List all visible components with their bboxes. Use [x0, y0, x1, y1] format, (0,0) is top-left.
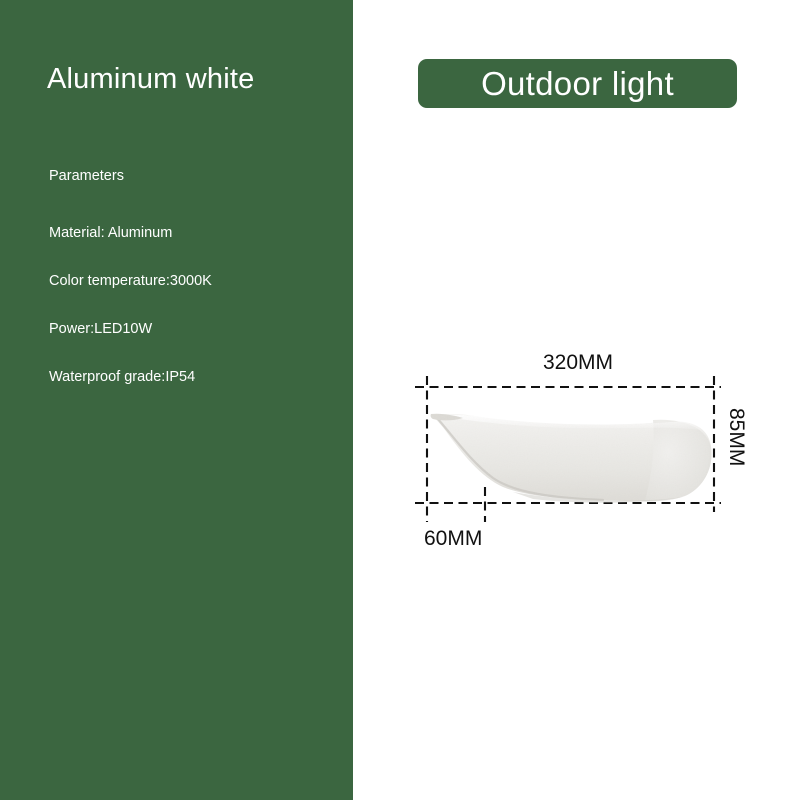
spec-row: Waterproof grade:IP54	[49, 369, 349, 385]
dimension-label-width: 320MM	[543, 352, 613, 373]
specifications-heading: Parameters	[49, 168, 349, 184]
specifications-list: Parameters Material: Aluminum Color temp…	[49, 168, 349, 385]
dimension-diagram: 320MM 60MM 85MM	[353, 0, 800, 800]
spec-row: Material: Aluminum	[49, 225, 349, 241]
right-white-panel: Outdoor light	[353, 0, 800, 800]
dimension-label-height: 85MM	[726, 408, 747, 466]
product-spec-image: Aluminum white Parameters Material: Alum…	[0, 0, 800, 800]
left-green-panel: Aluminum white Parameters Material: Alum…	[0, 0, 353, 800]
page-title: Aluminum white	[47, 63, 255, 96]
lamp-body-shape	[431, 414, 712, 503]
spec-row: Color temperature:3000K	[49, 273, 349, 289]
spec-row: Power:LED10W	[49, 321, 349, 337]
dimension-label-depth: 60MM	[424, 528, 482, 549]
